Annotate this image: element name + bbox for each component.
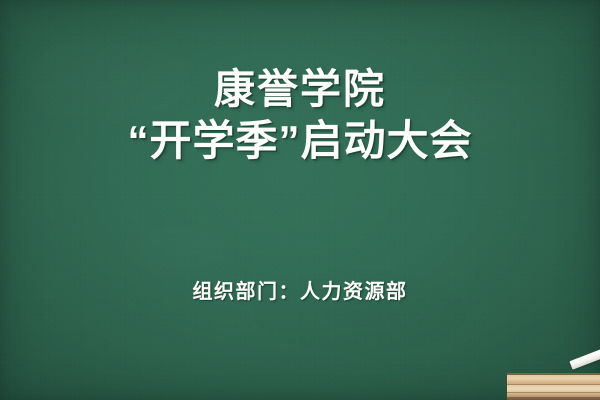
- chalk-tray-groove: [507, 392, 600, 393]
- slide-content: 康誉学院 “开学季”启动大会 组织部门：人力资源部: [0, 0, 600, 400]
- chalk-tray: [507, 373, 600, 400]
- chalk-tray-wood: [507, 375, 600, 400]
- chalkboard-slide: 康誉学院 “开学季”启动大会 组织部门：人力资源部: [0, 0, 600, 400]
- title-line-2: “开学季”启动大会: [0, 115, 600, 166]
- page-title: 康誉学院 “开学季”启动大会: [0, 64, 600, 166]
- subtitle-organizing-department: 组织部门：人力资源部: [0, 275, 600, 304]
- title-line-1: 康誉学院: [0, 64, 600, 115]
- chalk-tray-groove: [507, 384, 600, 385]
